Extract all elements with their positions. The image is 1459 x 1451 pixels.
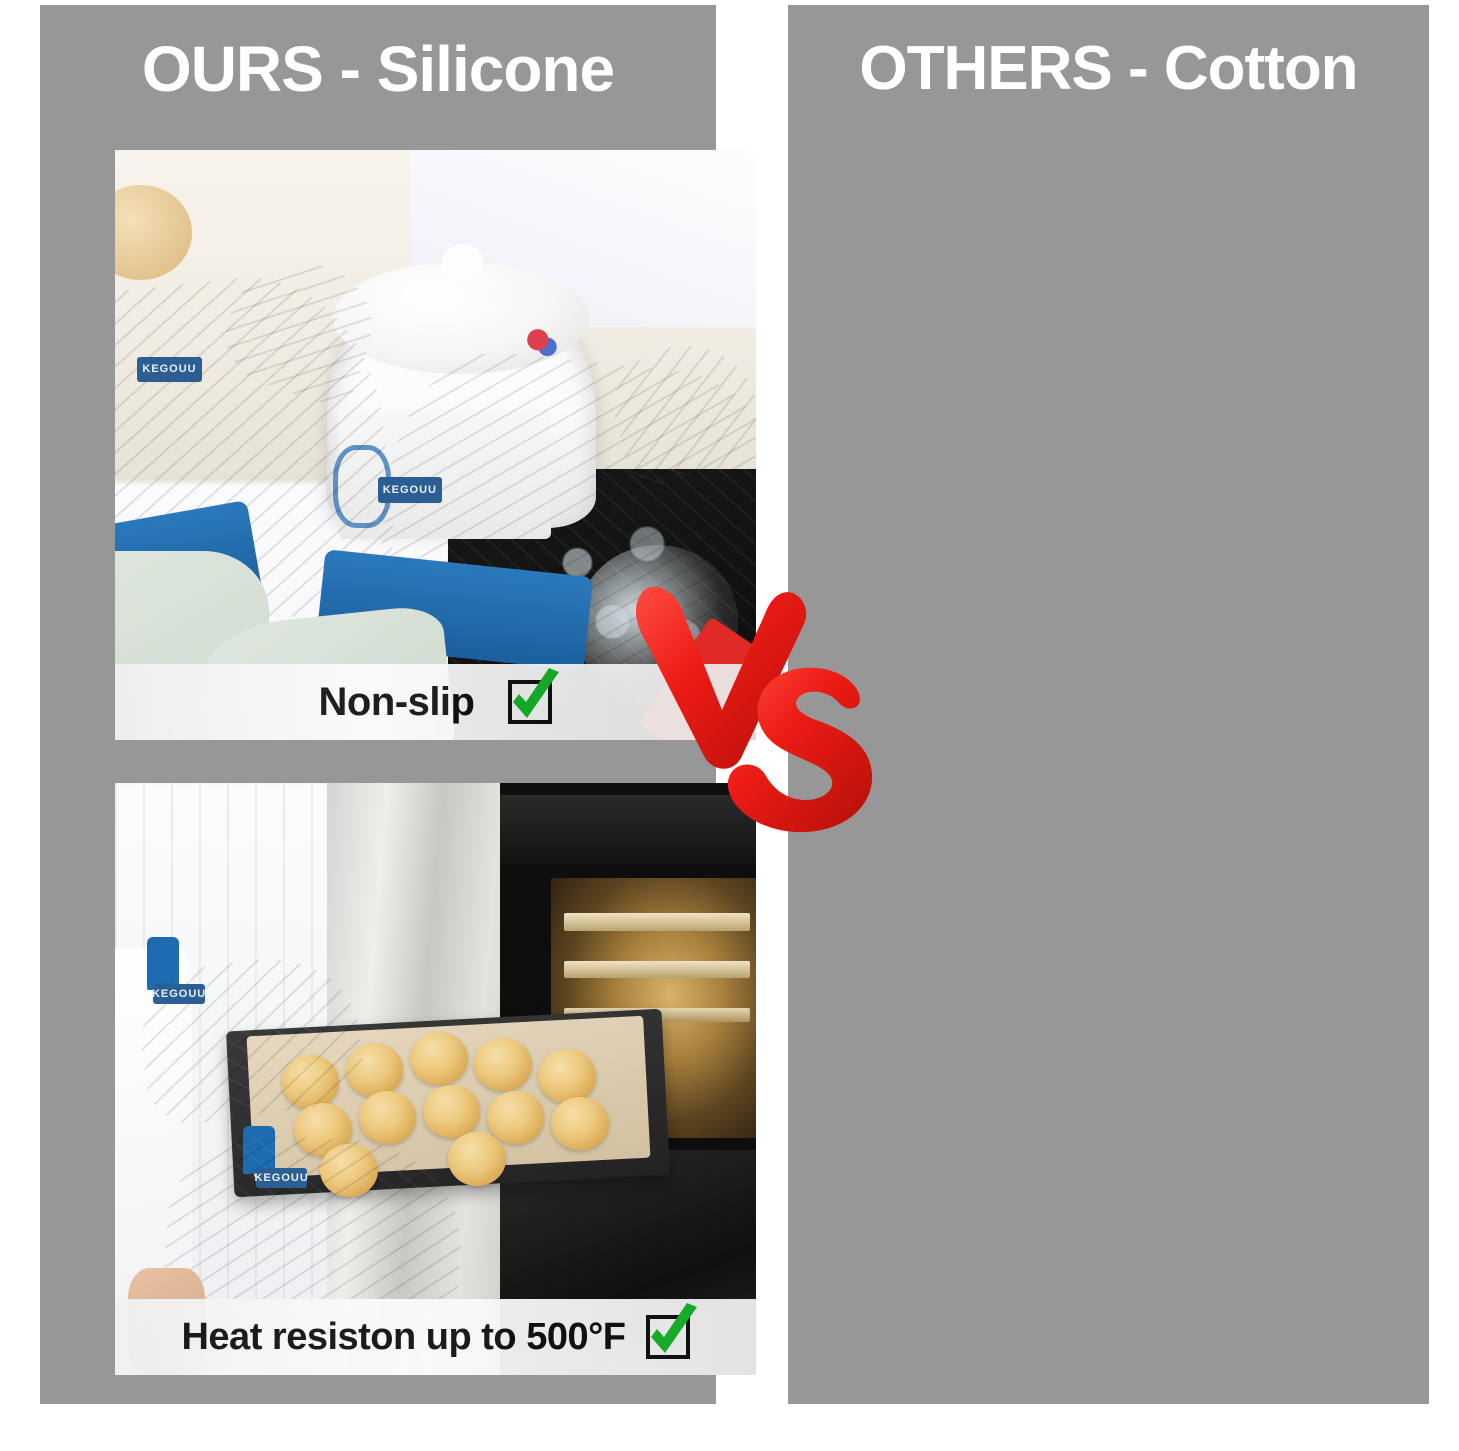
brand-tag-upper: KEGOUU — [153, 984, 204, 1004]
card-ours-non-slip: KEGOUU KEGOUU Non-slip — [115, 150, 756, 740]
check-mark-icon — [508, 680, 552, 724]
comparison-panel-others: OTHERS - Cotton — [788, 5, 1429, 1404]
product-comparison-infographic: OURS - Silicone — [0, 0, 1459, 1451]
comparison-panel-ours: OURS - Silicone — [40, 5, 716, 1404]
check-mark-icon — [646, 1315, 690, 1359]
photo-blue-mitts-cookies-oven: KEGOUU KEGOUU — [115, 783, 756, 1375]
caption-text: Heat resiston up to 500°F — [181, 1316, 625, 1359]
panel-title-ours: OURS - Silicone — [40, 23, 716, 115]
caption-text: Non-slip — [319, 680, 475, 725]
caption-bar-non-slip: Non-slip — [115, 664, 756, 740]
brand-tag-left: KEGOUU — [137, 357, 201, 383]
brand-tag-lower: KEGOUU — [256, 1168, 307, 1188]
photo-blue-mitts-pot: KEGOUU KEGOUU — [115, 150, 756, 740]
caption-bar-heat-500: Heat resiston up to 500°F — [115, 1299, 756, 1375]
panel-title-others: OTHERS - Cotton — [788, 23, 1429, 115]
brand-tag-right: KEGOUU — [378, 477, 442, 503]
card-ours-heat: KEGOUU KEGOUU Heat resiston up to 500°F — [115, 783, 756, 1375]
